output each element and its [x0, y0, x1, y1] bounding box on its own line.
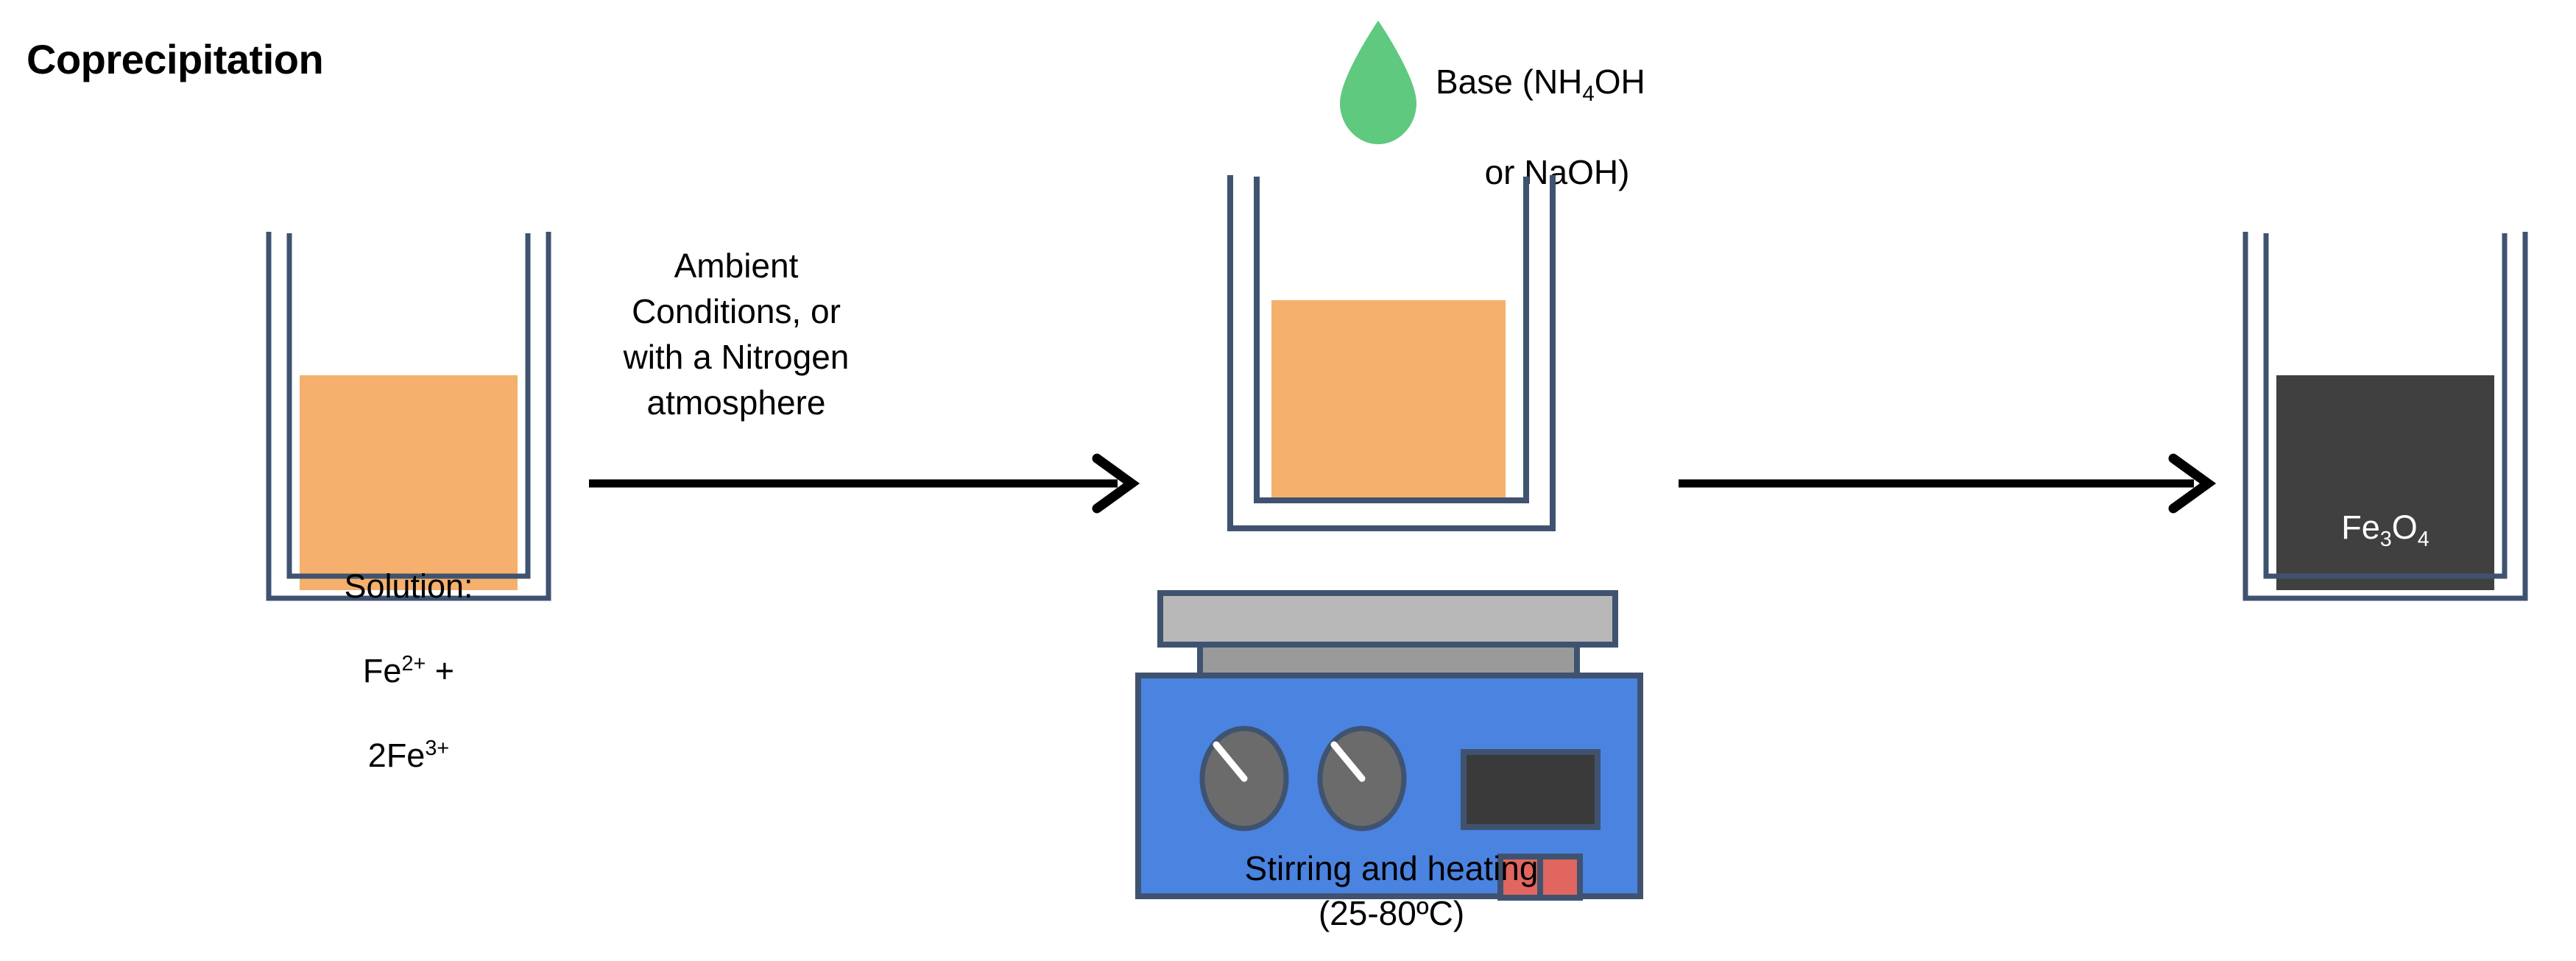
reaction-beaker [1218, 168, 1564, 609]
product-beaker-label: Fe3O4 [2276, 464, 2494, 591]
product-beaker: Fe3O4 [2238, 224, 2533, 636]
reaction-arrow-1 [589, 456, 1148, 511]
base-droplet [1334, 16, 1422, 149]
reaction-arrow-1-caption: Ambient Conditions, or with a Nitrogen a… [604, 243, 869, 425]
reaction-arrow-2 [1679, 456, 2223, 511]
reactant-beaker-label: Solution: Fe2+ + 2Fe3+ [300, 522, 518, 819]
hotplate-display [1464, 752, 1598, 827]
reaction-solution-fill [1271, 300, 1506, 503]
droplet-shape [1340, 21, 1416, 144]
reactant-label-line-1: Solution: [300, 565, 518, 608]
page-title: Coprecipitation [27, 35, 323, 83]
reactant-beaker: Solution: Fe2+ + 2Fe3+ [261, 224, 556, 636]
base-caption-line-1: Base (NH4OH [1436, 60, 1730, 104]
reactant-label-line-2: Fe2+ + [300, 650, 518, 692]
hotplate-caption: Stirring and heating (25-80ºC) [1163, 846, 1620, 935]
reactant-label-line-3: 2Fe3+ [300, 734, 518, 777]
product-formula: Fe3O4 [2276, 506, 2494, 549]
coprecipitation-diagram: Coprecipitation Solution: Fe2+ + 2Fe3+ A… [0, 0, 2576, 961]
hotplate-top-plate [1160, 593, 1615, 645]
